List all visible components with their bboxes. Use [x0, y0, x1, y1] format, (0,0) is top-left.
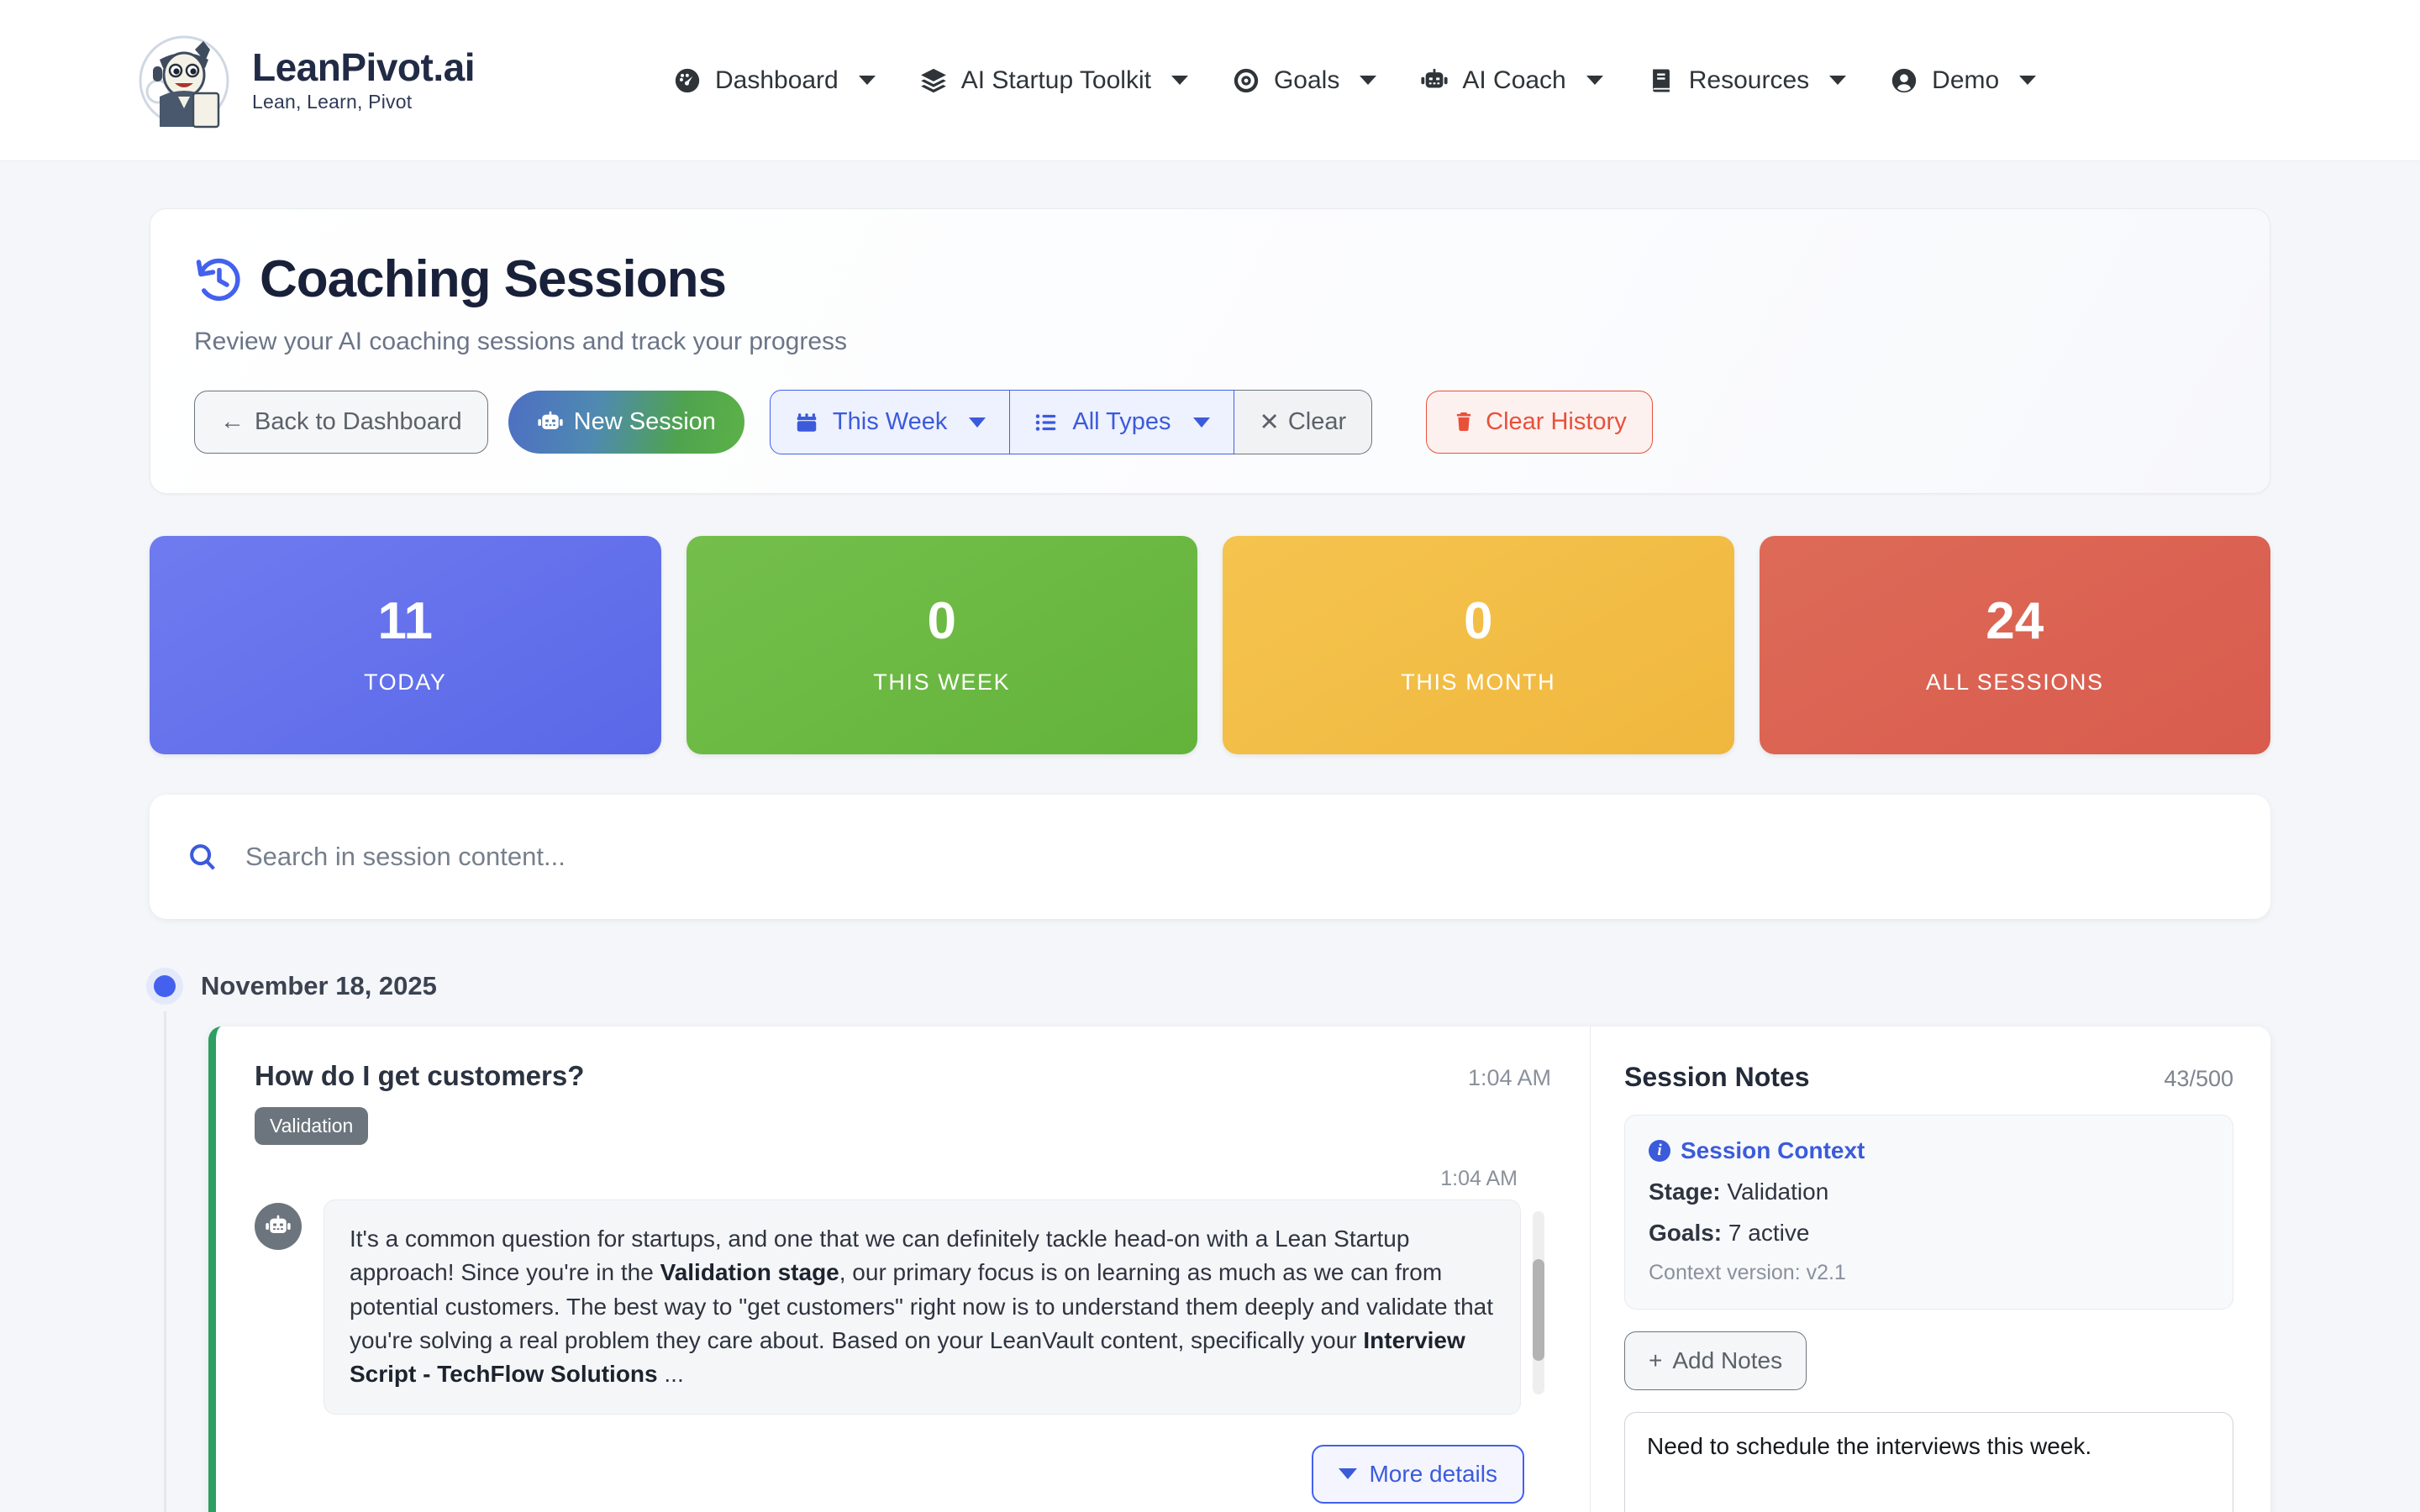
page-header-card: Coaching Sessions Review your AI coachin… [150, 208, 2270, 494]
stat-card-this-week[interactable]: 0 THIS WEEK [687, 536, 1198, 754]
session-notes-panel: Session Notes 43/500 i Session Context S… [1590, 1026, 2270, 1512]
stats-row: 11 TODAY 0 THIS WEEK 0 THIS MONTH 24 ALL… [150, 536, 2270, 754]
chevron-down-icon [1339, 1468, 1357, 1479]
chevron-down-icon [969, 417, 986, 428]
stat-value: 11 [377, 596, 433, 648]
nav-item-label: AI Coach [1462, 66, 1565, 95]
chevron-down-icon [2019, 76, 2036, 85]
session-notes-title: Session Notes [1624, 1062, 1810, 1093]
chevron-down-icon [1586, 76, 1603, 85]
plus-icon: + [1649, 1347, 1662, 1374]
chat-message-text: It's a common question for startups, and… [324, 1200, 1521, 1415]
page-title: Coaching Sessions [194, 249, 2226, 309]
stat-value: 0 [1464, 596, 1492, 648]
chat-scrollbar-thumb[interactable] [1533, 1259, 1544, 1362]
page-toolbar: ← Back to Dashboard New Session This Wee… [194, 390, 2226, 454]
chevron-down-icon [1193, 417, 1210, 428]
search-bar[interactable] [150, 795, 2270, 919]
status-badge: Validation [255, 1107, 368, 1145]
brand-logo[interactable]: LeanPivot.ai Lean, Learn, Pivot [134, 31, 475, 130]
layers-icon [919, 66, 948, 95]
nav-item-label: Resources [1689, 66, 1809, 95]
stat-card-today[interactable]: 11 TODAY [150, 536, 661, 754]
session-card[interactable]: How do I get customers? Validation 1:04 … [208, 1026, 2270, 1512]
session-card-main: How do I get customers? Validation 1:04 … [216, 1026, 1590, 1512]
session-card-header: How do I get customers? Validation 1:04 … [255, 1060, 1551, 1145]
date-range-filter[interactable]: This Week [770, 390, 1010, 454]
session-context-stage: Stage: Validation [1649, 1179, 2209, 1205]
arrow-left-icon: ← [220, 408, 245, 436]
back-to-dashboard-label: Back to Dashboard [255, 408, 462, 436]
type-filter[interactable]: All Types [1010, 390, 1234, 454]
chat-message: It's a common question for startups, and… [255, 1200, 1521, 1415]
stat-value: 24 [1986, 596, 2044, 648]
chevron-down-icon [1829, 76, 1846, 85]
clear-history-label: Clear History [1486, 408, 1627, 436]
timeline-date-label: November 18, 2025 [201, 971, 437, 1001]
session-title: How do I get customers? [255, 1060, 584, 1092]
clear-filters-button[interactable]: ✕ Clear [1234, 390, 1373, 454]
session-context-goals-value: 7 active [1728, 1220, 1810, 1246]
stat-card-all-sessions[interactable]: 24 ALL SESSIONS [1760, 536, 2271, 754]
book-icon [1647, 66, 1676, 95]
message-timestamp: 1:04 AM [255, 1167, 1551, 1191]
timeline-date-group: November 18, 2025 [150, 971, 2270, 1001]
nav-item-ai-coach[interactable]: AI Coach [1398, 56, 1624, 105]
robot-icon [1420, 66, 1449, 95]
clear-history-button[interactable]: Clear History [1426, 391, 1653, 454]
clear-filters-label: Clear [1288, 408, 1346, 436]
search-icon [187, 841, 218, 873]
add-notes-button[interactable]: + Add Notes [1624, 1331, 1807, 1390]
close-x-icon: ✕ [1260, 407, 1280, 437]
history-clock-icon [194, 255, 245, 305]
mascot-startup-canvas-logo [134, 31, 234, 130]
session-timestamp: 1:04 AM [1468, 1060, 1551, 1091]
top-navigation-bar: LeanPivot.ai Lean, Learn, Pivot Dashboar… [0, 0, 2420, 161]
timeline-dot-icon [154, 975, 176, 997]
robot-icon [537, 409, 564, 436]
session-context-title-text: Session Context [1681, 1137, 1865, 1164]
chat-transcript-area: It's a common question for startups, and… [255, 1200, 1551, 1415]
back-to-dashboard-button[interactable]: ← Back to Dashboard [194, 391, 488, 454]
session-context-goals: Goals: 7 active [1649, 1220, 2209, 1247]
add-notes-label: Add Notes [1672, 1347, 1782, 1374]
nav-item-label: AI Startup Toolkit [961, 66, 1151, 95]
nav-item-goals[interactable]: Goals [1210, 56, 1398, 105]
page-subtitle: Review your AI coaching sessions and tra… [194, 328, 2226, 356]
calendar-icon [794, 410, 819, 435]
session-context-version: Context version: v2.1 [1649, 1261, 2209, 1285]
stat-value: 0 [928, 596, 956, 648]
session-notes-header: Session Notes 43/500 [1624, 1062, 2233, 1093]
more-details-label: More details [1369, 1461, 1497, 1488]
nav-item-label: Dashboard [715, 66, 839, 95]
brand-tagline: Lean, Learn, Pivot [252, 91, 475, 113]
user-circle-icon [1890, 66, 1918, 95]
nav-item-resources[interactable]: Resources [1625, 56, 1868, 105]
new-session-label: New Session [574, 408, 716, 436]
robot-avatar-icon [255, 1203, 302, 1250]
new-session-button[interactable]: New Session [508, 391, 744, 454]
page-title-text: Coaching Sessions [260, 249, 726, 309]
date-range-filter-label: This Week [833, 408, 947, 436]
info-icon: i [1649, 1140, 1670, 1162]
speedometer-icon [673, 66, 702, 95]
stat-label: THIS MONTH [1401, 669, 1555, 696]
nav-item-label: Demo [1932, 66, 1999, 95]
trash-icon [1452, 410, 1476, 435]
chat-scrollbar[interactable] [1533, 1211, 1544, 1394]
session-context-stage-label: Stage: [1649, 1179, 1721, 1205]
list-icon [1034, 410, 1059, 435]
nav-item-demo-account[interactable]: Demo [1868, 56, 2058, 105]
filter-group: This Week All Types ✕ Clear [770, 390, 1372, 454]
stat-label: THIS WEEK [873, 669, 1010, 696]
session-context-title: i Session Context [1649, 1137, 2209, 1164]
nav-links: Dashboard AI Startup Toolkit Goals AI Co… [651, 56, 2058, 105]
session-context-goals-label: Goals: [1649, 1220, 1722, 1246]
more-details-row: More details [255, 1445, 1551, 1504]
search-input[interactable] [245, 842, 2233, 872]
nav-item-dashboard[interactable]: Dashboard [651, 56, 897, 105]
sessions-timeline: November 18, 2025 How do I get customers… [150, 971, 2270, 1512]
session-context-stage-value: Validation [1727, 1179, 1828, 1205]
session-context-box: i Session Context Stage: Validation Goal… [1624, 1115, 2233, 1310]
more-details-button[interactable]: More details [1312, 1445, 1524, 1504]
chevron-down-icon [859, 76, 876, 85]
nav-item-label: Goals [1274, 66, 1339, 95]
session-notes-char-counter: 43/500 [2164, 1066, 2233, 1092]
type-filter-label: All Types [1072, 408, 1171, 436]
chevron-down-icon [1171, 76, 1188, 85]
timeline-line [164, 1011, 166, 1512]
target-icon [1232, 66, 1260, 95]
nav-item-ai-startup-toolkit[interactable]: AI Startup Toolkit [897, 56, 1210, 105]
page-content: Coaching Sessions Review your AI coachin… [0, 208, 2420, 1512]
session-notes-textarea[interactable] [1624, 1412, 2233, 1512]
brand-title: LeanPivot.ai [252, 47, 475, 87]
stat-card-this-month[interactable]: 0 THIS MONTH [1223, 536, 1734, 754]
stat-label: TODAY [364, 669, 447, 696]
chevron-down-icon [1360, 76, 1376, 85]
stat-label: ALL SESSIONS [1926, 669, 2104, 696]
